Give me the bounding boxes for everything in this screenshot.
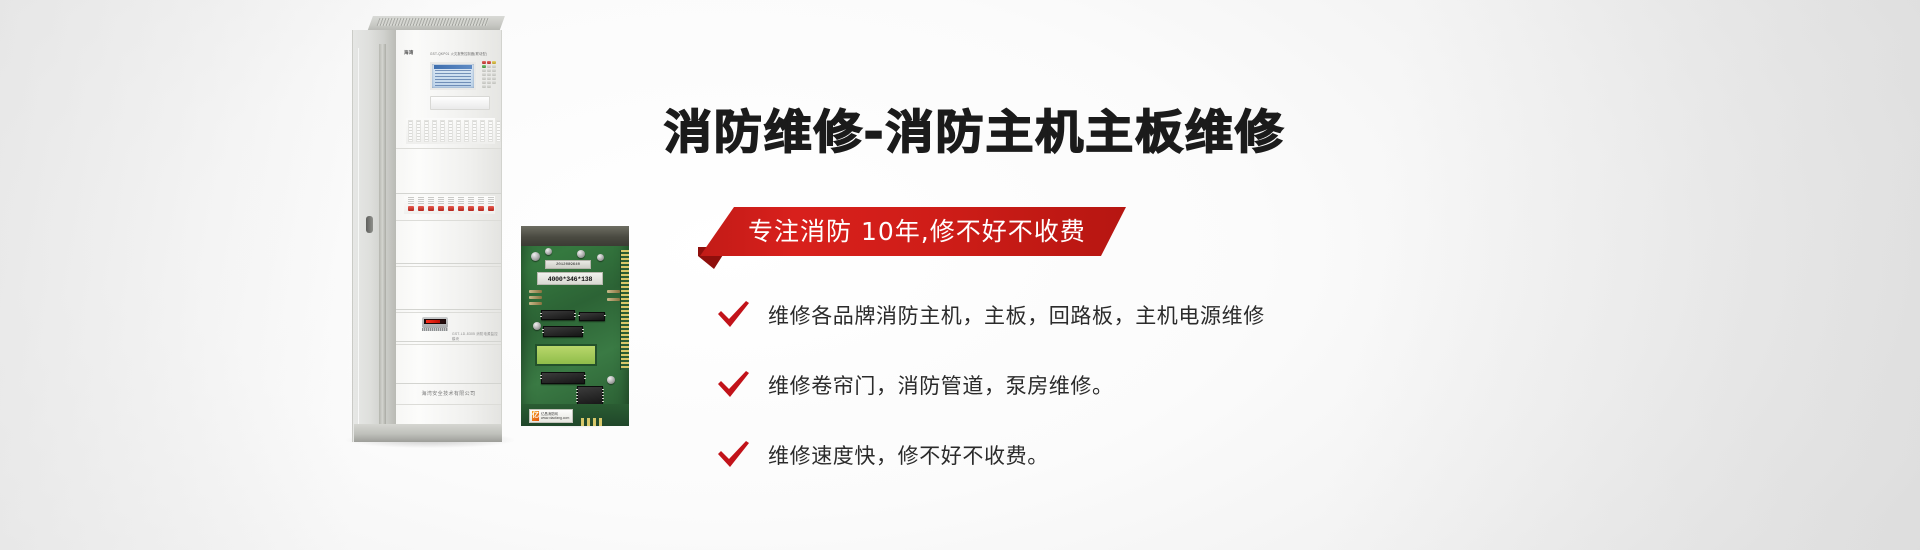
resistor [607, 290, 620, 293]
pcb-substrate: 2012089640 4000*346*138 [521, 226, 629, 426]
gold-finger [599, 418, 602, 426]
check-icon [716, 370, 750, 400]
cabinet-brand-mark: 海湾 [404, 50, 414, 56]
list-item-label: 维修速度快，修不好不收费。 [768, 440, 1049, 470]
pcb-lcd-module [535, 344, 597, 366]
cabinet-blank-panel [396, 266, 501, 310]
keypad-key [482, 81, 486, 84]
cabinet-vent-grille [377, 18, 490, 26]
cabinet-module-label: GST-LD-8305 消防电源监控模块 [452, 331, 501, 341]
cabinet-blank-panel [396, 344, 501, 384]
cabinet-lcd-display [430, 62, 476, 90]
fire-repair-banner: 海湾 GST-QKP01 火灾报警控制器(联动型) [0, 0, 1920, 550]
pcb-top-bracket [521, 226, 629, 246]
pcb-board-label: 4000*346*138 [537, 272, 603, 285]
cabinet-side-door [352, 30, 396, 442]
resistor [529, 290, 542, 293]
gold-finger [581, 418, 584, 426]
list-item-label: 维修卷帘门，消防管道，泵房维修。 [768, 370, 1114, 400]
cabinet-front-face: 海湾 GST-QKP01 火灾报警控制器(联动型) [396, 30, 502, 442]
keypad-key [482, 65, 486, 68]
pcb-sub-label: 2012089640 [545, 260, 591, 269]
power-meter-display [422, 317, 448, 328]
cabinet-door-handle [366, 216, 373, 233]
cabinet-blank-panel [396, 220, 501, 264]
resistor [529, 302, 542, 305]
keypad-key [492, 81, 496, 84]
capacitor [607, 376, 615, 384]
lcd-title-bar [434, 65, 472, 69]
check-icon [716, 440, 750, 470]
check-icon [716, 300, 750, 330]
feature-bullet-list: 维修各品牌消防主机，主板，回路板，主机电源维修 维修卷帘门，消防管道，泵房维修。… [716, 292, 1716, 502]
keypad-key [482, 61, 486, 64]
keypad-key [482, 85, 486, 88]
keypad-key [492, 77, 496, 80]
control-board-pcb: 2012089640 4000*346*138 [521, 226, 629, 426]
integrated-circuit [541, 372, 585, 384]
lcd-text-rows [435, 70, 471, 86]
cabinet-model-label: GST-QKP01 火灾报警控制器(联动型) [430, 51, 487, 56]
cabinet-plinth [354, 424, 502, 442]
badge-logo-mark: 亿 [532, 411, 539, 421]
keypad-key [492, 65, 496, 68]
cabinet-led-bank [406, 118, 495, 144]
cabinet-power-monitor-panel: GST-LD-8305 消防电源监控模块 [396, 312, 501, 342]
keypad-key [487, 61, 491, 64]
cabinet-side-seam [358, 48, 359, 424]
list-item: 维修速度快，修不好不收费。 [716, 432, 1716, 478]
badge-caption: 亿昌消防网 www.xiaofang.com [541, 412, 570, 420]
keypad-key [492, 69, 496, 72]
integrated-circuit [579, 312, 605, 321]
slogan-ribbon: 专注消防 10年,修不好不收费 [700, 207, 1126, 256]
banner-headline: 消防维修-消防主机主板维修 [664, 96, 1285, 162]
integrated-circuit [543, 326, 583, 337]
keypad-key [487, 85, 491, 88]
banner-content: 消防维修-消防主机主板维修 专注消防 10年,修不好不收费 维修各品牌消防主机，… [664, 0, 1844, 550]
fire-alarm-control-cabinet: 海湾 GST-QKP01 火灾报警控制器(联动型) [352, 14, 504, 448]
capacitor [545, 248, 552, 255]
capacitor [533, 322, 541, 330]
keypad-key [487, 77, 491, 80]
power-meter-terminals [422, 328, 448, 331]
resistor [607, 298, 620, 301]
list-item: 维修各品牌消防主机，主板，回路板，主机电源维修 [716, 292, 1716, 338]
keypad-key [487, 65, 491, 68]
integrated-circuit [541, 310, 575, 320]
resistor [529, 296, 542, 299]
keypad-key [482, 73, 486, 76]
ribbon-slogan-text: 专注消防 10年,修不好不收费 [748, 207, 1086, 256]
cabinet-company-label: 海湾安全技术有限公司 [396, 390, 501, 397]
cabinet-brand-row: 海湾 GST-QKP01 火灾报警控制器(联动型) [402, 50, 497, 58]
pcb-edge-connector [620, 250, 629, 370]
gold-finger [593, 418, 596, 426]
keypad-key [487, 81, 491, 84]
capacitor [597, 254, 604, 261]
list-item-label: 维修各品牌消防主机，主板，回路板，主机电源维修 [768, 300, 1265, 330]
keypad-key [482, 69, 486, 72]
cabinet-keypad [482, 60, 500, 92]
list-item: 维修卷帘门，消防管道，泵房维修。 [716, 362, 1716, 408]
keypad-key [492, 73, 496, 76]
cabinet-blank-panel [396, 148, 501, 194]
capacitor [531, 252, 540, 261]
microcontroller-chip [577, 386, 603, 406]
keypad-key [482, 77, 486, 80]
keypad-key [492, 61, 496, 64]
gold-finger [587, 418, 590, 426]
keypad-key [487, 69, 491, 72]
keypad-key [487, 73, 491, 76]
cabinet-zone-indicator-bank [404, 196, 495, 214]
capacitor [577, 250, 585, 258]
cabinet-hinge [379, 44, 386, 428]
cabinet-printer-slot [430, 96, 490, 110]
watermark-badge: 亿 亿昌消防网 www.xiaofang.com [529, 409, 573, 423]
